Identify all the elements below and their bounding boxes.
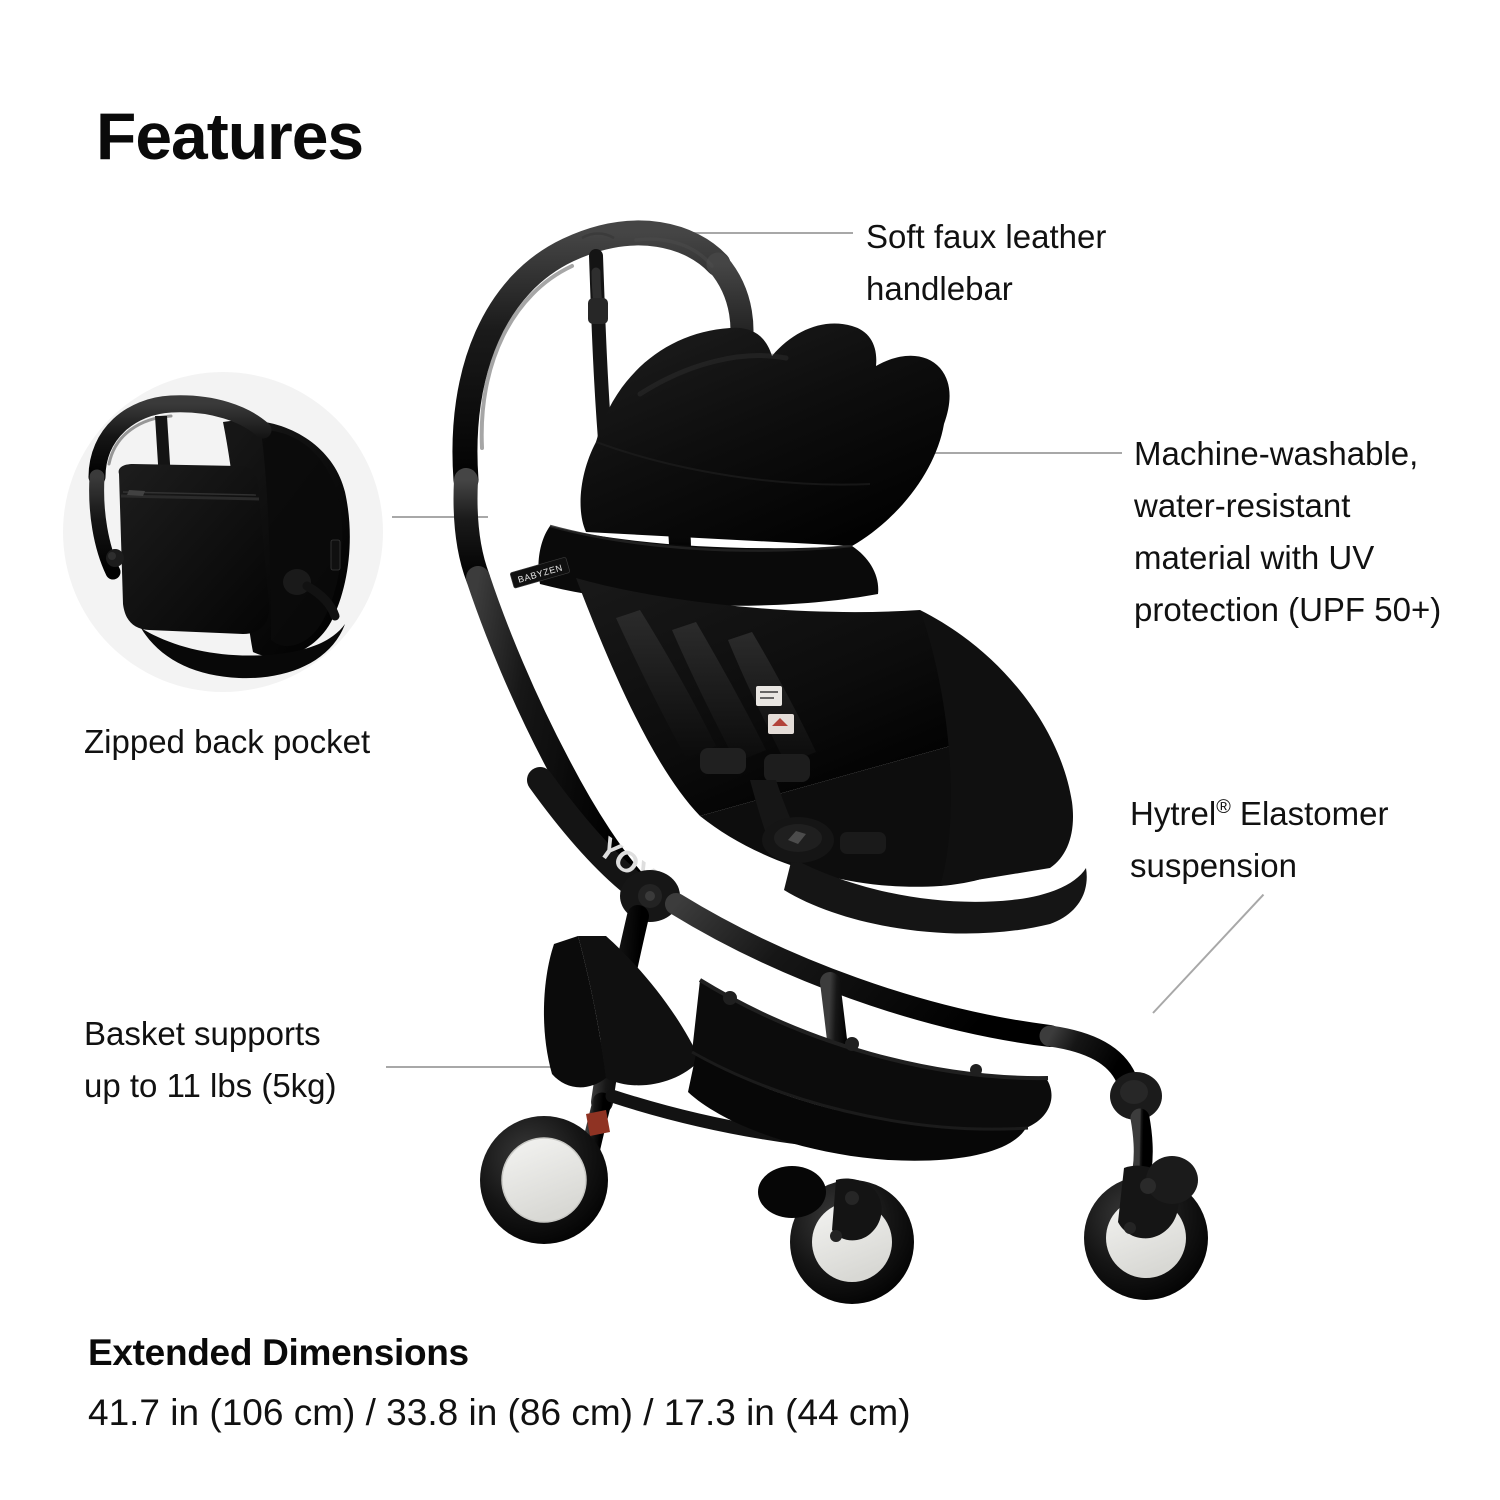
- extended-dimensions-value: 41.7 in (106 cm) / 33.8 in (86 cm) / 17.…: [88, 1392, 911, 1434]
- canopy-group: BABYZEN: [510, 324, 950, 606]
- callout-line: Machine-washable,: [1134, 428, 1441, 480]
- wheel-front-left: [480, 1116, 608, 1244]
- stroller-illustration: BABYZEN: [400, 180, 1220, 1340]
- callout-line: protection (UPF 50+): [1134, 584, 1441, 636]
- callout-line: material with UV: [1134, 532, 1441, 584]
- callout-line: Basket supports: [84, 1008, 337, 1060]
- elastomer-word: Elastomer: [1231, 795, 1389, 832]
- callout-line: suspension: [1130, 840, 1388, 892]
- callout-line: Zipped back pocket: [84, 716, 370, 768]
- accent-strap: [586, 1110, 610, 1136]
- hytrel-word: Hytrel: [1130, 795, 1216, 832]
- wheel-rear-inner: [758, 1166, 826, 1218]
- inset-stroller-rear-illustration: [63, 372, 383, 692]
- inset-zipped-back-pocket: [63, 372, 383, 692]
- wheel-rear: [1084, 1156, 1208, 1300]
- callout-basket-capacity: Basket supports up to 11 lbs (5kg): [84, 1008, 337, 1112]
- callout-hytrel-elastomer-suspension: Hytrel® Elastomer suspension: [1130, 788, 1388, 892]
- callout-zipped-back-pocket: Zipped back pocket: [84, 716, 370, 768]
- callout-line: Soft faux leather: [866, 211, 1106, 263]
- registered-trademark-symbol: ®: [1216, 796, 1231, 818]
- callout-line: handlebar: [866, 263, 1106, 315]
- callout-machine-washable-material: Machine-washable, water-resistant materi…: [1134, 428, 1441, 636]
- callout-line: water-resistant: [1134, 480, 1441, 532]
- callout-line: up to 11 lbs (5kg): [84, 1060, 337, 1112]
- extended-dimensions-label: Extended Dimensions: [88, 1332, 469, 1374]
- callout-soft-faux-leather-handlebar: Soft faux leather handlebar: [866, 211, 1106, 315]
- page-title: Features: [96, 103, 363, 169]
- feature-diagram: Features: [0, 0, 1500, 1500]
- callout-line: Hytrel® Elastomer: [1130, 788, 1388, 840]
